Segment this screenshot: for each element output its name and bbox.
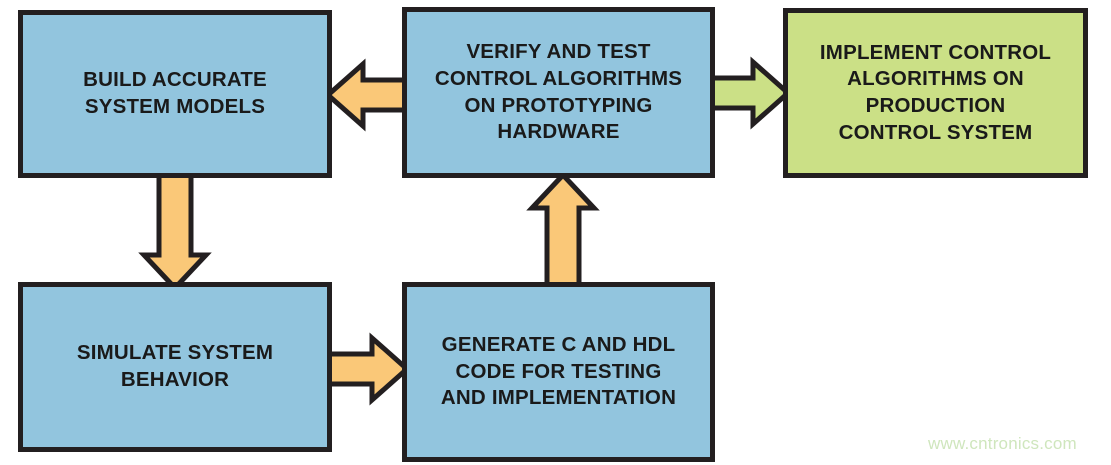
arrow-right-icon: [706, 56, 791, 130]
arrow-left-icon: [325, 58, 411, 132]
arrow-build-to-simulate: [134, 171, 216, 291]
flowchart-diagram: BUILD ACCURATE SYSTEM MODELS VERIFY AND …: [0, 0, 1111, 465]
node-label: SIMULATE SYSTEM BEHAVIOR: [67, 340, 283, 393]
node-label: BUILD ACCURATE SYSTEM MODELS: [73, 67, 277, 120]
node-verify-and-test-control-algorithms[interactable]: VERIFY AND TEST CONTROL ALGORITHMS ON PR…: [402, 7, 715, 178]
node-label: IMPLEMENT CONTROL ALGORITHMS ON PRODUCTI…: [810, 40, 1061, 147]
arrow-verify-to-build: [325, 58, 411, 132]
node-label: VERIFY AND TEST CONTROL ALGORITHMS ON PR…: [425, 39, 692, 146]
watermark-cntronics: www.cntronics.com: [928, 434, 1077, 454]
arrow-generate-to-verify: [522, 172, 604, 290]
node-implement-control-algorithms[interactable]: IMPLEMENT CONTROL ALGORITHMS ON PRODUCTI…: [783, 8, 1088, 178]
arrow-verify-to-implement: [706, 56, 791, 130]
arrow-right-icon: [325, 332, 410, 406]
node-simulate-system-behavior[interactable]: SIMULATE SYSTEM BEHAVIOR: [18, 282, 332, 452]
node-build-accurate-system-models[interactable]: BUILD ACCURATE SYSTEM MODELS: [18, 10, 332, 178]
arrow-down-icon: [134, 171, 216, 291]
node-label: GENERATE C AND HDL CODE FOR TESTING AND …: [431, 332, 686, 412]
arrow-up-icon: [522, 172, 604, 290]
node-generate-c-and-hdl-code[interactable]: GENERATE C AND HDL CODE FOR TESTING AND …: [402, 282, 715, 462]
arrow-simulate-to-generate: [325, 332, 410, 406]
